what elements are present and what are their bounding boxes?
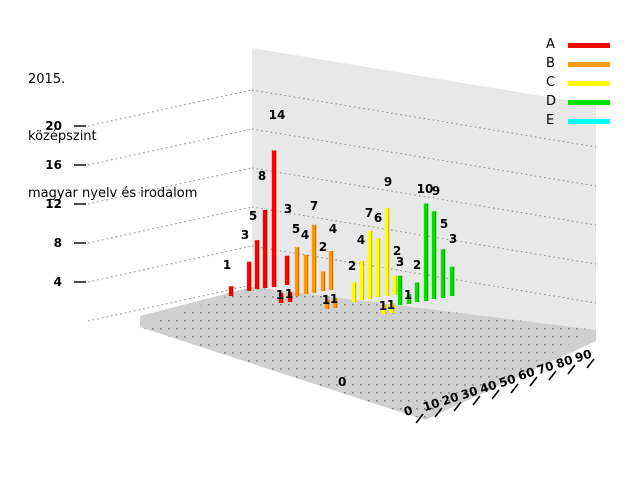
bar-edge-B-11 <box>324 272 325 292</box>
bar-value-label-C-15: 2 <box>348 259 356 273</box>
bar-value-label-C-16: 4 <box>357 233 365 247</box>
bar-value-label-B-8: 5 <box>292 222 300 236</box>
bar-value-label-A-7: 1 <box>285 287 293 301</box>
bar-value-label-A-5: 3 <box>284 202 292 216</box>
legend-swatch-b <box>568 62 610 67</box>
bar-value-label-D-25: 2 <box>413 258 421 272</box>
bar-value-label-D-29: 3 <box>449 232 457 246</box>
legend-item-a[interactable]: A <box>546 36 638 55</box>
bar-edge-A-3 <box>266 210 267 288</box>
bar-value-label-A-4: 14 <box>269 108 286 122</box>
legend-label-b: B <box>546 56 560 71</box>
y-tick-label-16: 16 <box>22 158 62 172</box>
bar-edge-C-16 <box>363 261 364 300</box>
chart-canvas: 2015. középszint magyar nyelv és irodalo… <box>0 0 640 480</box>
bar-edge-C-20 <box>396 276 397 296</box>
y-tick-label-8: 8 <box>22 236 62 250</box>
bar-value-label-A-0: 1 <box>223 258 231 272</box>
bar-value-label-A-3: 8 <box>258 169 266 183</box>
bar-edge-A-1 <box>250 262 251 291</box>
bar-edge-B-9 <box>307 255 308 294</box>
legend-label-d: D <box>546 94 560 109</box>
bar-value-label-B-10: 7 <box>310 199 318 213</box>
bar-edge-D-23 <box>401 276 402 305</box>
front-origin-label: 0 <box>338 375 346 389</box>
bar-value-label-A-6: 1 <box>276 288 284 302</box>
legend-item-d[interactable]: D <box>546 93 638 112</box>
bar-edge-D-28 <box>444 249 445 298</box>
bar-edge-A-4 <box>275 151 276 288</box>
bar-value-label-D-27: 9 <box>432 184 440 198</box>
bar-edge-C-17 <box>371 231 372 299</box>
bar-value-label-C-19: 9 <box>384 175 392 189</box>
bar-value-label-D-23: 3 <box>396 255 404 269</box>
y-tick-label-12: 12 <box>22 197 62 211</box>
bar-edge-B-10 <box>315 225 316 293</box>
bar-value-label-C-18: 6 <box>374 211 382 225</box>
legend-label-c: C <box>546 75 560 90</box>
bar-edge-D-26 <box>427 204 428 302</box>
legend-label-e: E <box>546 113 560 128</box>
bar-value-label-B-12: 4 <box>329 222 337 236</box>
legend-item-c[interactable]: C <box>546 74 638 93</box>
bar-value-label-C-17: 7 <box>365 206 373 220</box>
bar-edge-B-8 <box>298 247 299 296</box>
legend-item-b[interactable]: B <box>546 55 638 74</box>
bar-edge-C-18 <box>379 239 380 298</box>
bar-edge-A-0 <box>232 286 233 296</box>
legend: A B C D E <box>546 36 638 131</box>
bar-value-label-B-11: 2 <box>319 240 327 254</box>
bar-edge-A-2 <box>258 240 259 289</box>
bar-edge-B-12 <box>332 251 333 290</box>
legend-swatch-c <box>568 81 610 86</box>
bar-edge-D-29 <box>453 267 454 296</box>
bar-value-label-D-28: 5 <box>440 217 448 231</box>
bar-value-label-C-22: 1 <box>387 298 395 312</box>
bar-value-label-A-1: 3 <box>241 228 249 242</box>
title-line-1: 2015. <box>28 70 197 89</box>
bar-edge-A-5 <box>288 256 289 285</box>
legend-label-a: A <box>546 37 560 52</box>
legend-swatch-e <box>568 119 610 124</box>
bar-edge-D-27 <box>435 211 436 299</box>
legend-swatch-d <box>568 100 610 105</box>
legend-swatch-a <box>568 43 610 48</box>
bar-value-label-D-24: 1 <box>404 288 412 302</box>
bar-value-label-A-2: 5 <box>249 209 257 223</box>
y-tick-label-4: 4 <box>22 275 62 289</box>
legend-item-e[interactable]: E <box>546 112 638 131</box>
y-tick-label-20: 20 <box>22 119 62 133</box>
bar-value-label-B-14: 1 <box>330 292 338 306</box>
bar-edge-D-25 <box>418 283 419 303</box>
bar-edge-C-15 <box>355 283 356 303</box>
bar-value-label-B-9: 4 <box>301 228 309 242</box>
bar-edge-C-19 <box>388 208 389 296</box>
